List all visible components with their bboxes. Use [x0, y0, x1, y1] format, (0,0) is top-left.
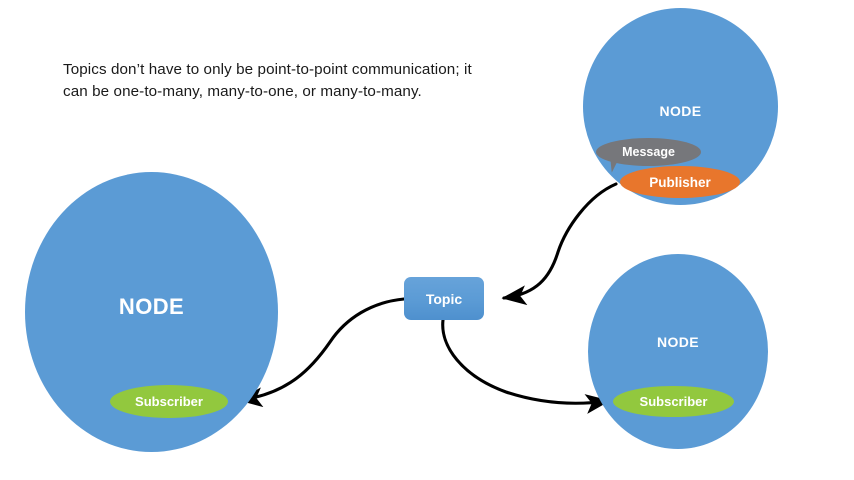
- edge-topic-to-subscriber-bottomright: [443, 320, 608, 403]
- subscriber-left[interactable]: Subscriber: [110, 385, 228, 418]
- node-left-label: NODE: [25, 294, 278, 320]
- node-top-right-label: NODE: [583, 103, 778, 119]
- node-bottom-right-label: NODE: [588, 334, 768, 350]
- diagram-canvas: Topics don’t have to only be point-to-po…: [0, 0, 854, 480]
- node-bottom-right[interactable]: NODE: [588, 254, 768, 449]
- edge-publisher-to-topic: [504, 184, 616, 298]
- message-bubble[interactable]: Message: [596, 138, 701, 166]
- subscriber-bottom-right[interactable]: Subscriber: [613, 386, 734, 417]
- caption-text: Topics don’t have to only be point-to-po…: [63, 59, 483, 103]
- topic-box[interactable]: Topic: [404, 277, 484, 320]
- publisher[interactable]: Publisher: [620, 166, 740, 198]
